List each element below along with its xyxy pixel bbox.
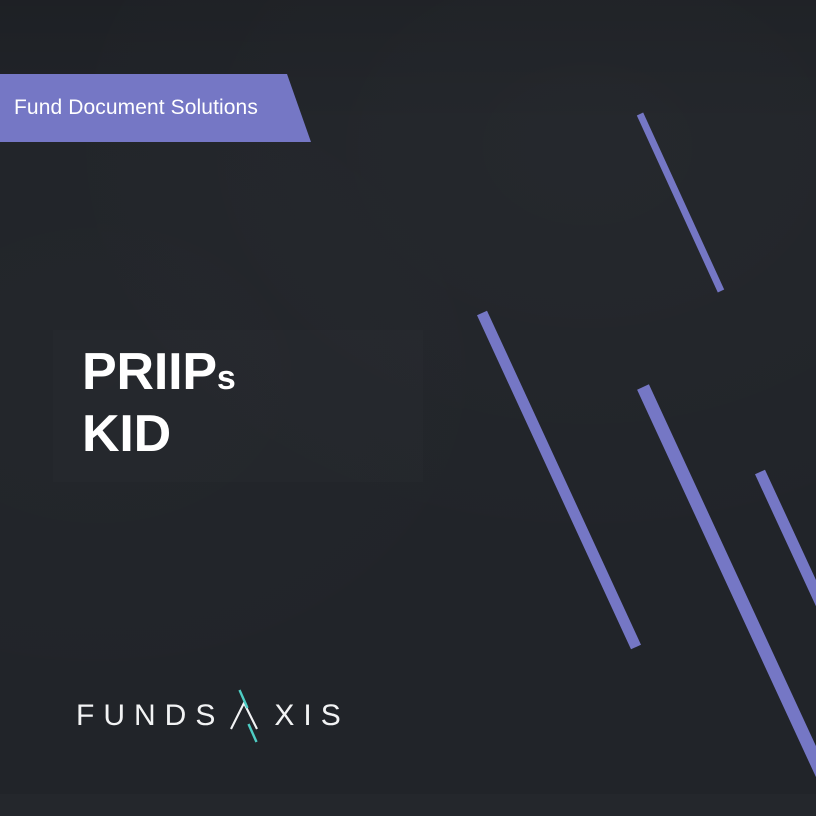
page-title-suffix: s [217,359,236,397]
logo-chevron-a [231,703,257,729]
banner: Fund Document Solutions [0,74,312,142]
logo: FUNDS XIS [76,688,350,744]
stripe-1 [640,114,721,291]
page-title-line-1: PRIIPs [82,344,236,406]
banner-label: Fund Document Solutions [14,74,258,142]
stripe-2 [482,313,636,647]
page-title: PRIIPs KID [82,344,236,462]
page-title-main: PRIIP [82,343,217,401]
axis-slash-mark-icon [226,688,272,744]
cover-page: Fund Document Solutions PRIIPs KID FUNDS… [0,0,816,816]
stripe-4 [760,472,816,645]
logo-word-funds: FUNDS [76,701,224,731]
page-title-line-2: KID [82,406,236,462]
logo-word-xis: XIS [274,701,349,731]
background-bottom-band [0,794,816,816]
stripe-3 [643,387,816,792]
